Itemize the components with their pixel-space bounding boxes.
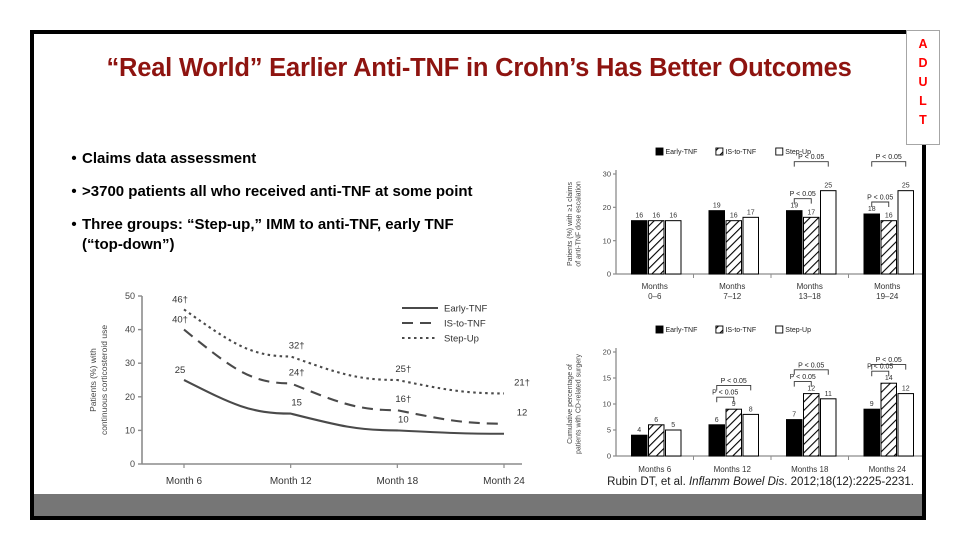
y-tick-label: 0 (130, 459, 135, 469)
bar-early-tnf (787, 211, 803, 274)
y-tick-label: 5 (607, 426, 611, 435)
cd-surgery-bar-chart: 05101520Cumulative percentage ofpatients… (550, 324, 922, 496)
list-item-text: Three groups: “Step-up,” IMM to anti-TNF… (82, 215, 498, 255)
bar-value-label: 11 (825, 391, 832, 398)
x-tick-label: Months (797, 282, 823, 291)
bar-value-label: 12 (902, 386, 910, 393)
data-label: 12 (517, 408, 528, 419)
bar-value-label: 16 (652, 213, 660, 220)
y-tick-label: 30 (603, 170, 611, 179)
data-label: 40† (172, 315, 188, 326)
legend-label: IS-to-TNF (725, 149, 756, 156)
bar-step-up (666, 430, 682, 456)
bar-value-label: 12 (807, 386, 815, 393)
data-label: 10 (398, 414, 409, 425)
bar-value-label: 7 (792, 412, 796, 419)
adult-tab-letter: T (919, 111, 927, 130)
bar-value-label: 17 (807, 209, 815, 216)
p-value-label: P < 0.05 (876, 357, 902, 364)
y-axis-label: Patients (%) with (88, 348, 98, 412)
legend-label: Early-TNF (666, 149, 698, 156)
adult-tab-letter: L (919, 92, 927, 111)
y-tick-label: 20 (603, 203, 611, 212)
bar-step-up (743, 217, 759, 274)
significance-bracket (872, 162, 906, 167)
data-label: 16† (395, 394, 411, 405)
list-item: • Claims data assessment (66, 149, 498, 169)
bullet-dot-icon: • (66, 149, 82, 169)
slide-canvas: “Real World” Earlier Anti-TNF in Crohn’s… (34, 34, 922, 516)
bar-is-to-tnf (804, 394, 820, 456)
bullet-list: • Claims data assessment • >3700 patient… (66, 149, 498, 268)
list-item: • Three groups: “Step-up,” IMM to anti-T… (66, 215, 498, 255)
bar-early-tnf (632, 435, 648, 456)
p-value-label: P < 0.05 (867, 195, 893, 202)
series-line-early-tnf (184, 380, 504, 434)
bar-is-to-tnf (881, 221, 897, 274)
data-label: 46† (172, 294, 188, 305)
bar-value-label: 25 (824, 183, 832, 190)
legend-label: Early-TNF (444, 304, 487, 315)
bar-step-up (666, 221, 682, 274)
data-label: 25† (395, 364, 411, 375)
line-chart-svg: 01020304050Patients (%) withcontinuous c… (70, 286, 536, 501)
dose-escalation-bar-chart: 0102030Patients (%) with ≥1 claimsof ant… (550, 146, 922, 314)
bar-step-up (821, 399, 837, 456)
bar-value-label: 19 (713, 203, 721, 210)
list-item: • >3700 patients all who received anti-T… (66, 182, 498, 202)
y-tick-label: 40 (125, 325, 135, 335)
bar-value-label: 25 (902, 183, 910, 190)
y-tick-label: 0 (607, 270, 611, 279)
corticosteroid-line-chart: 01020304050Patients (%) withcontinuous c… (70, 286, 536, 501)
bar-is-to-tnf (726, 221, 742, 274)
bar-value-label: 8 (749, 406, 753, 413)
bullet-dot-icon: • (66, 215, 82, 235)
bar-value-label: 16 (669, 213, 677, 220)
bar-step-up (743, 414, 759, 456)
bar-chart-top-svg: 0102030Patients (%) with ≥1 claimsof ant… (550, 146, 922, 314)
citation-journal: Inflamm Bowel Dis (689, 476, 784, 488)
y-axis-label: Patients (%) with ≥1 claims (567, 182, 574, 266)
data-label: 24† (289, 367, 305, 378)
data-label: 15 (291, 398, 302, 409)
p-value-label: P < 0.05 (798, 362, 824, 369)
y-axis-label: Cumulative percentage of (567, 364, 574, 444)
bar-value-label: 14 (885, 375, 893, 382)
citation-authors: Rubin DT, et al. (607, 476, 689, 488)
bar-value-label: 16 (885, 213, 893, 220)
bar-value-label: 16 (730, 213, 738, 220)
data-label: 21† (514, 377, 530, 388)
x-tick-label: Month 12 (270, 476, 312, 487)
legend-swatch (776, 326, 783, 333)
bar-value-label: 4 (637, 427, 641, 434)
p-value-label: P < 0.05 (790, 191, 816, 198)
bar-value-label: 16 (635, 213, 643, 220)
bar-early-tnf (632, 221, 648, 274)
data-label: 25 (175, 365, 186, 376)
x-tick-label: Months (874, 282, 900, 291)
bar-value-label: 19 (790, 203, 798, 210)
x-tick-label: Months 12 (714, 465, 752, 474)
p-value-label: P < 0.05 (876, 154, 902, 161)
data-label: 32† (289, 340, 305, 351)
x-tick-label: Months (642, 282, 668, 291)
legend-swatch (776, 148, 783, 155)
y-tick-label: 10 (603, 236, 611, 245)
legend-label: IS-to-TNF (444, 319, 486, 330)
x-tick-label: Month 6 (166, 476, 203, 487)
x-tick-label: Months (719, 282, 745, 291)
x-tick-label: 0–6 (648, 292, 662, 301)
y-tick-label: 10 (603, 400, 611, 409)
bar-is-to-tnf (881, 383, 897, 456)
bar-early-tnf (787, 420, 803, 456)
x-tick-label: Months 18 (791, 465, 829, 474)
adult-tab-letter: A (918, 35, 927, 54)
bar-value-label: 6 (715, 417, 719, 424)
bar-chart-bottom-svg: 05101520Cumulative percentage ofpatients… (550, 324, 922, 496)
bar-early-tnf (864, 409, 880, 456)
legend-swatch (656, 326, 663, 333)
bar-value-label: 5 (671, 422, 675, 429)
legend-swatch (716, 326, 723, 333)
legend-swatch (656, 148, 663, 155)
adult-section-tab[interactable]: A D U L T (906, 30, 940, 145)
x-tick-label: Month 24 (483, 476, 525, 487)
bar-early-tnf (864, 214, 880, 274)
legend-swatch (716, 148, 723, 155)
significance-bracket (794, 162, 828, 167)
p-value-label: P < 0.05 (721, 378, 747, 385)
bar-value-label: 9 (732, 401, 736, 408)
bar-value-label: 17 (747, 209, 755, 216)
p-value-label: P < 0.05 (790, 374, 816, 381)
y-axis-label: of anti-TNF dose escalation (576, 181, 583, 267)
citation: Rubin DT, et al. Inflamm Bowel Dis. 2012… (607, 476, 914, 488)
y-tick-label: 10 (125, 425, 135, 435)
footer-band (34, 494, 922, 516)
legend-label: Step-Up (444, 334, 479, 345)
y-tick-label: 15 (603, 374, 611, 383)
legend-label: IS-to-TNF (725, 327, 756, 334)
bullet-dot-icon: • (66, 182, 82, 202)
adult-tab-letter: U (918, 73, 927, 92)
y-tick-label: 0 (607, 452, 611, 461)
page-title: “Real World” Earlier Anti-TNF in Crohn’s… (74, 52, 884, 85)
bar-value-label: 18 (868, 206, 876, 213)
list-item-text: >3700 patients all who received anti-TNF… (82, 182, 498, 202)
x-tick-label: 13–18 (799, 292, 822, 301)
y-tick-label: 30 (125, 358, 135, 368)
legend-label: Early-TNF (666, 327, 698, 334)
x-tick-label: 7–12 (723, 292, 741, 301)
x-tick-label: 19–24 (876, 292, 899, 301)
bar-is-to-tnf (726, 409, 742, 456)
adult-tab-letter: D (918, 54, 927, 73)
bar-step-up (821, 191, 837, 274)
bar-is-to-tnf (804, 217, 820, 274)
bar-step-up (898, 394, 914, 456)
bar-early-tnf (709, 425, 725, 456)
x-tick-label: Month 18 (376, 476, 418, 487)
x-tick-label: Months 24 (869, 465, 907, 474)
y-axis-label: continuous corticosteroid use (99, 325, 109, 435)
bar-early-tnf (709, 211, 725, 274)
y-tick-label: 50 (125, 291, 135, 301)
y-tick-label: 20 (125, 392, 135, 402)
bar-step-up (898, 191, 914, 274)
list-item-text: Claims data assessment (82, 149, 498, 169)
bar-is-to-tnf (649, 425, 665, 456)
p-value-label: P < 0.05 (712, 390, 738, 397)
legend-label: Step-Up (785, 149, 811, 156)
bar-is-to-tnf (649, 221, 665, 274)
citation-details: . 2012;18(12):2225-2231. (784, 476, 914, 488)
bar-value-label: 6 (654, 417, 658, 424)
bar-value-label: 9 (870, 401, 874, 408)
slide-frame: “Real World” Earlier Anti-TNF in Crohn’s… (30, 30, 926, 520)
y-tick-label: 20 (603, 348, 611, 357)
x-tick-label: Months 6 (638, 465, 671, 474)
legend-label: Step-Up (785, 327, 811, 334)
y-axis-label: patients with CD-related surgery (576, 354, 583, 454)
